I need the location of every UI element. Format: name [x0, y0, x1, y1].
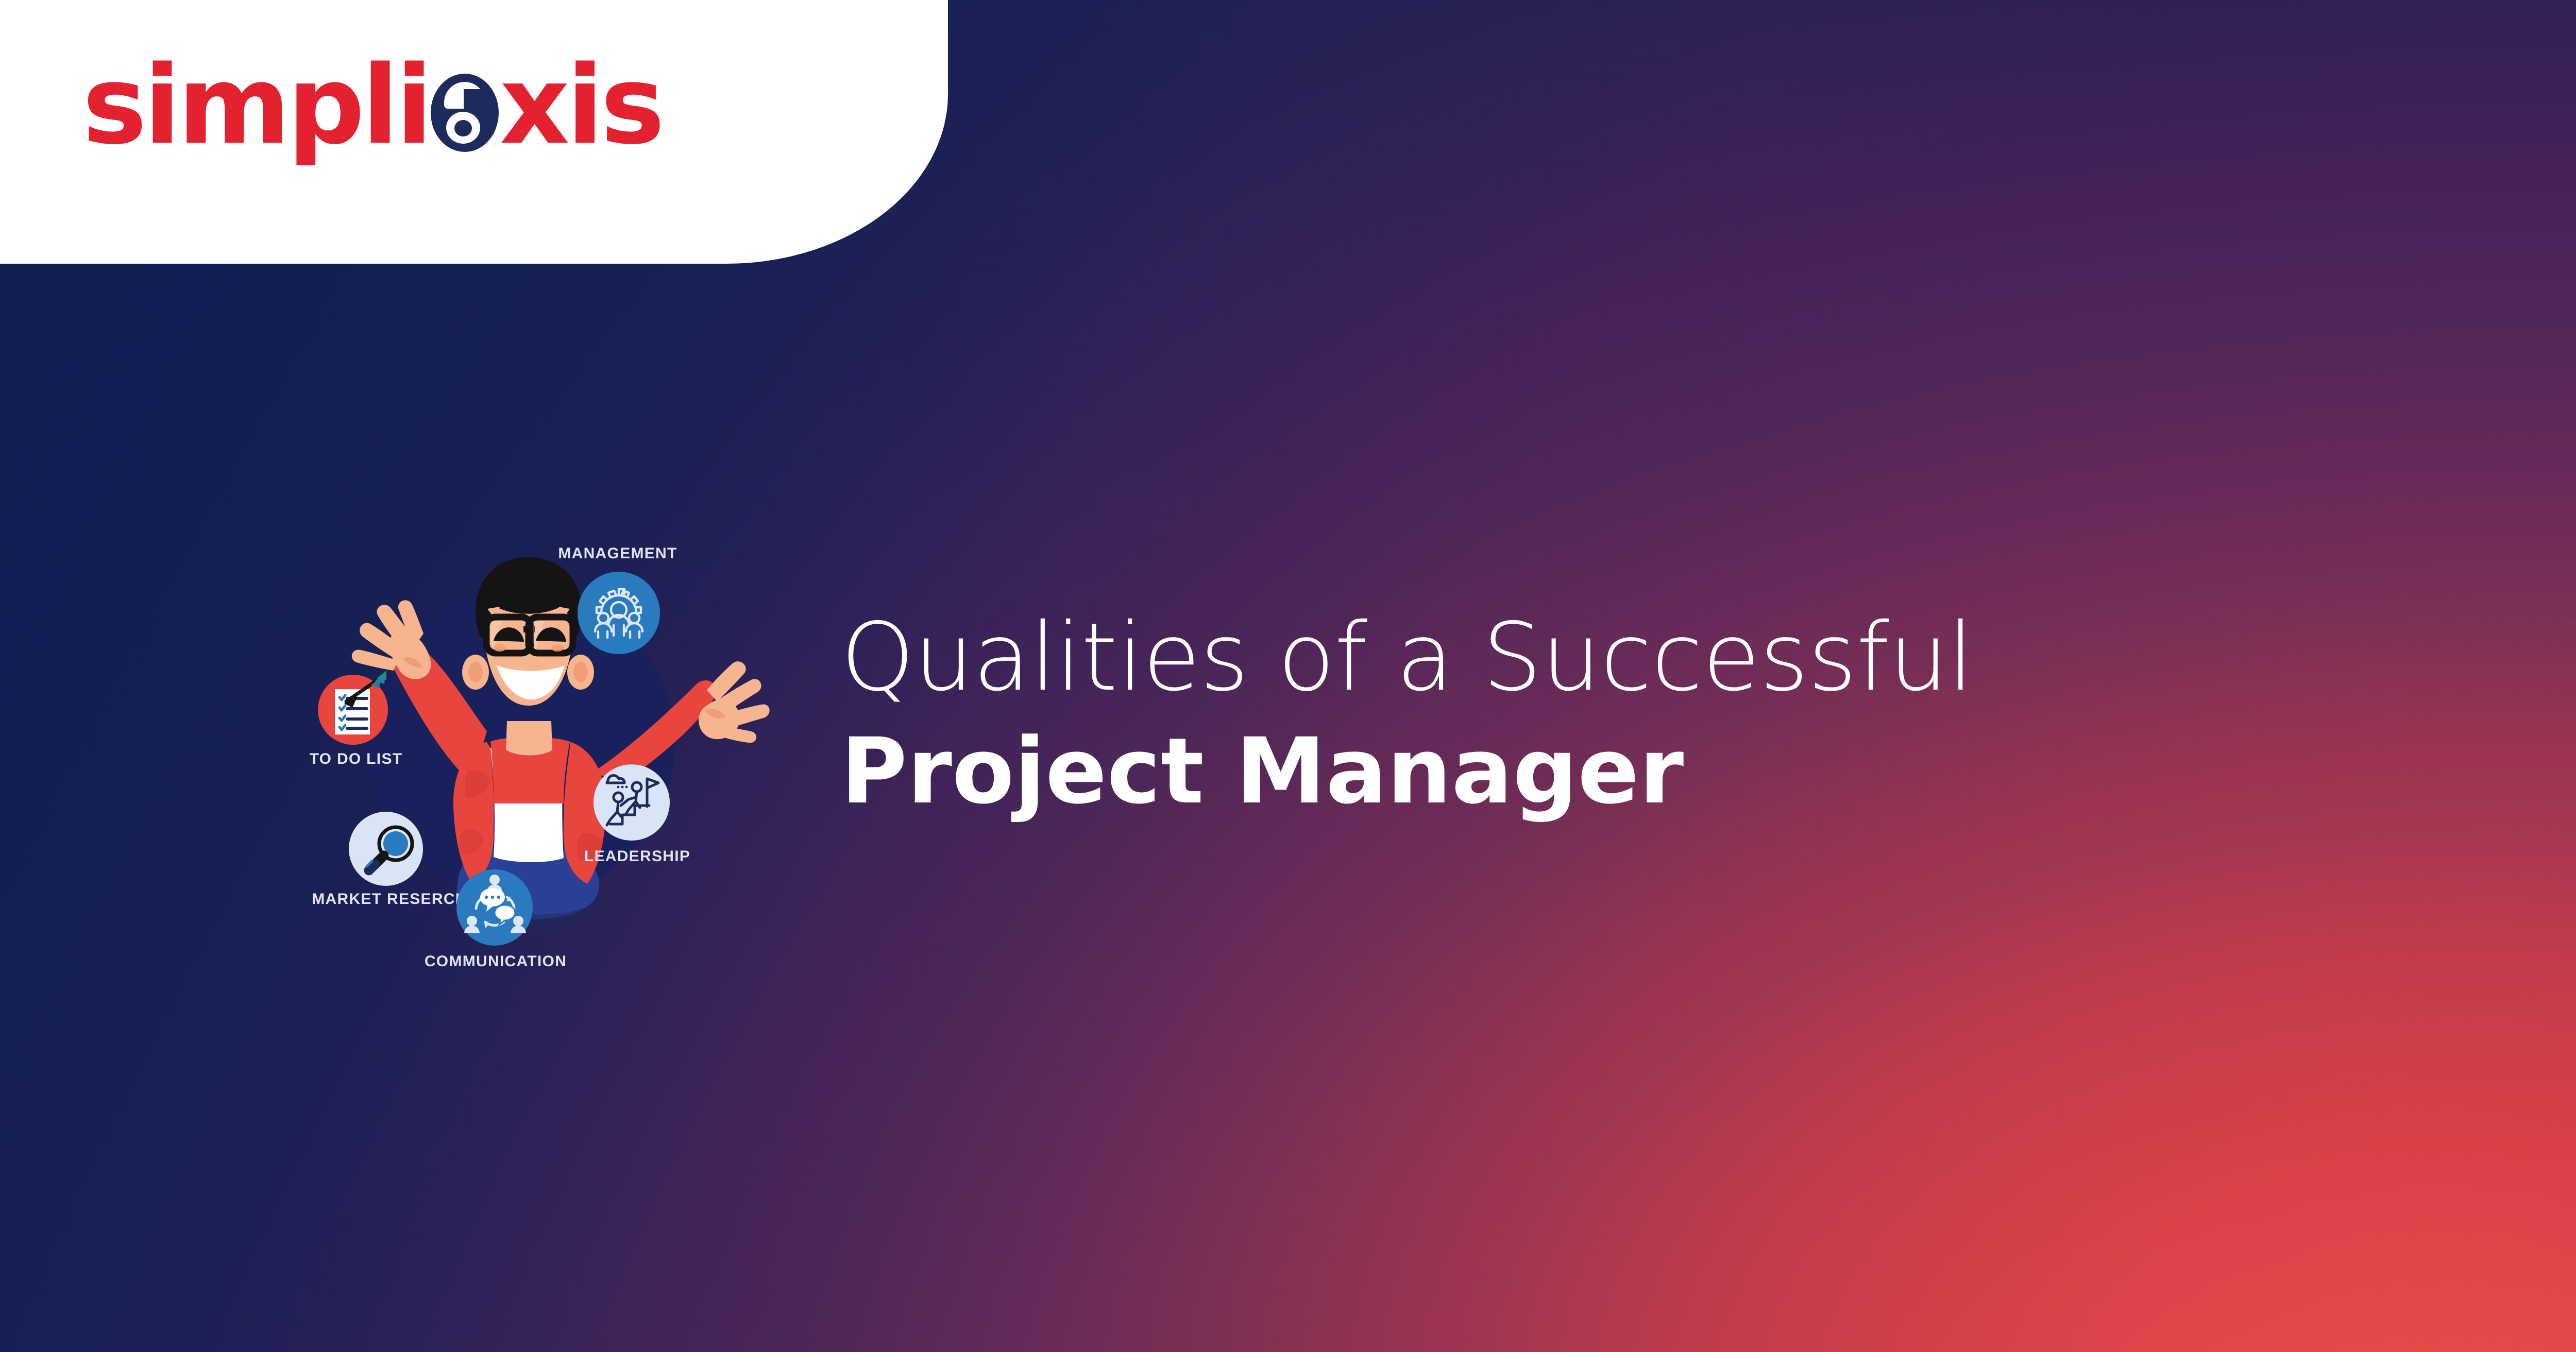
badge-circle-management	[578, 572, 660, 654]
badge-circle-leadership	[594, 764, 670, 841]
headline-line-1: Qualities of a Successful	[841, 610, 2335, 704]
character-left-hand	[352, 600, 431, 679]
character-head	[462, 557, 594, 706]
simpliaxis-logo[interactable]: simplixis	[82, 52, 662, 160]
logo-panel: simplixis	[0, 0, 948, 264]
headline-block: Qualities of a Successful Project Manage…	[841, 610, 2335, 820]
logo-a-glyph-icon	[431, 74, 499, 152]
badge-label-market-reserch: MARKET RESERCH	[312, 891, 467, 908]
badge-label-communication: COMMUNICATION	[425, 953, 567, 970]
badge-label-leadership: LEADERSHIP	[584, 848, 690, 865]
headline-line-2: Project Manager	[841, 723, 2335, 820]
marketing-banner: simplixis	[0, 0, 2576, 1352]
logo-text-xis: xis	[500, 42, 662, 168]
illustration-container: MANAGEMENT	[289, 515, 793, 989]
logo-text-simpli: simpli	[82, 42, 430, 168]
character-neck	[506, 721, 552, 756]
badge-label-management: MANAGEMENT	[558, 545, 677, 562]
badge-label-to-do-list: TO DO LIST	[310, 750, 403, 767]
